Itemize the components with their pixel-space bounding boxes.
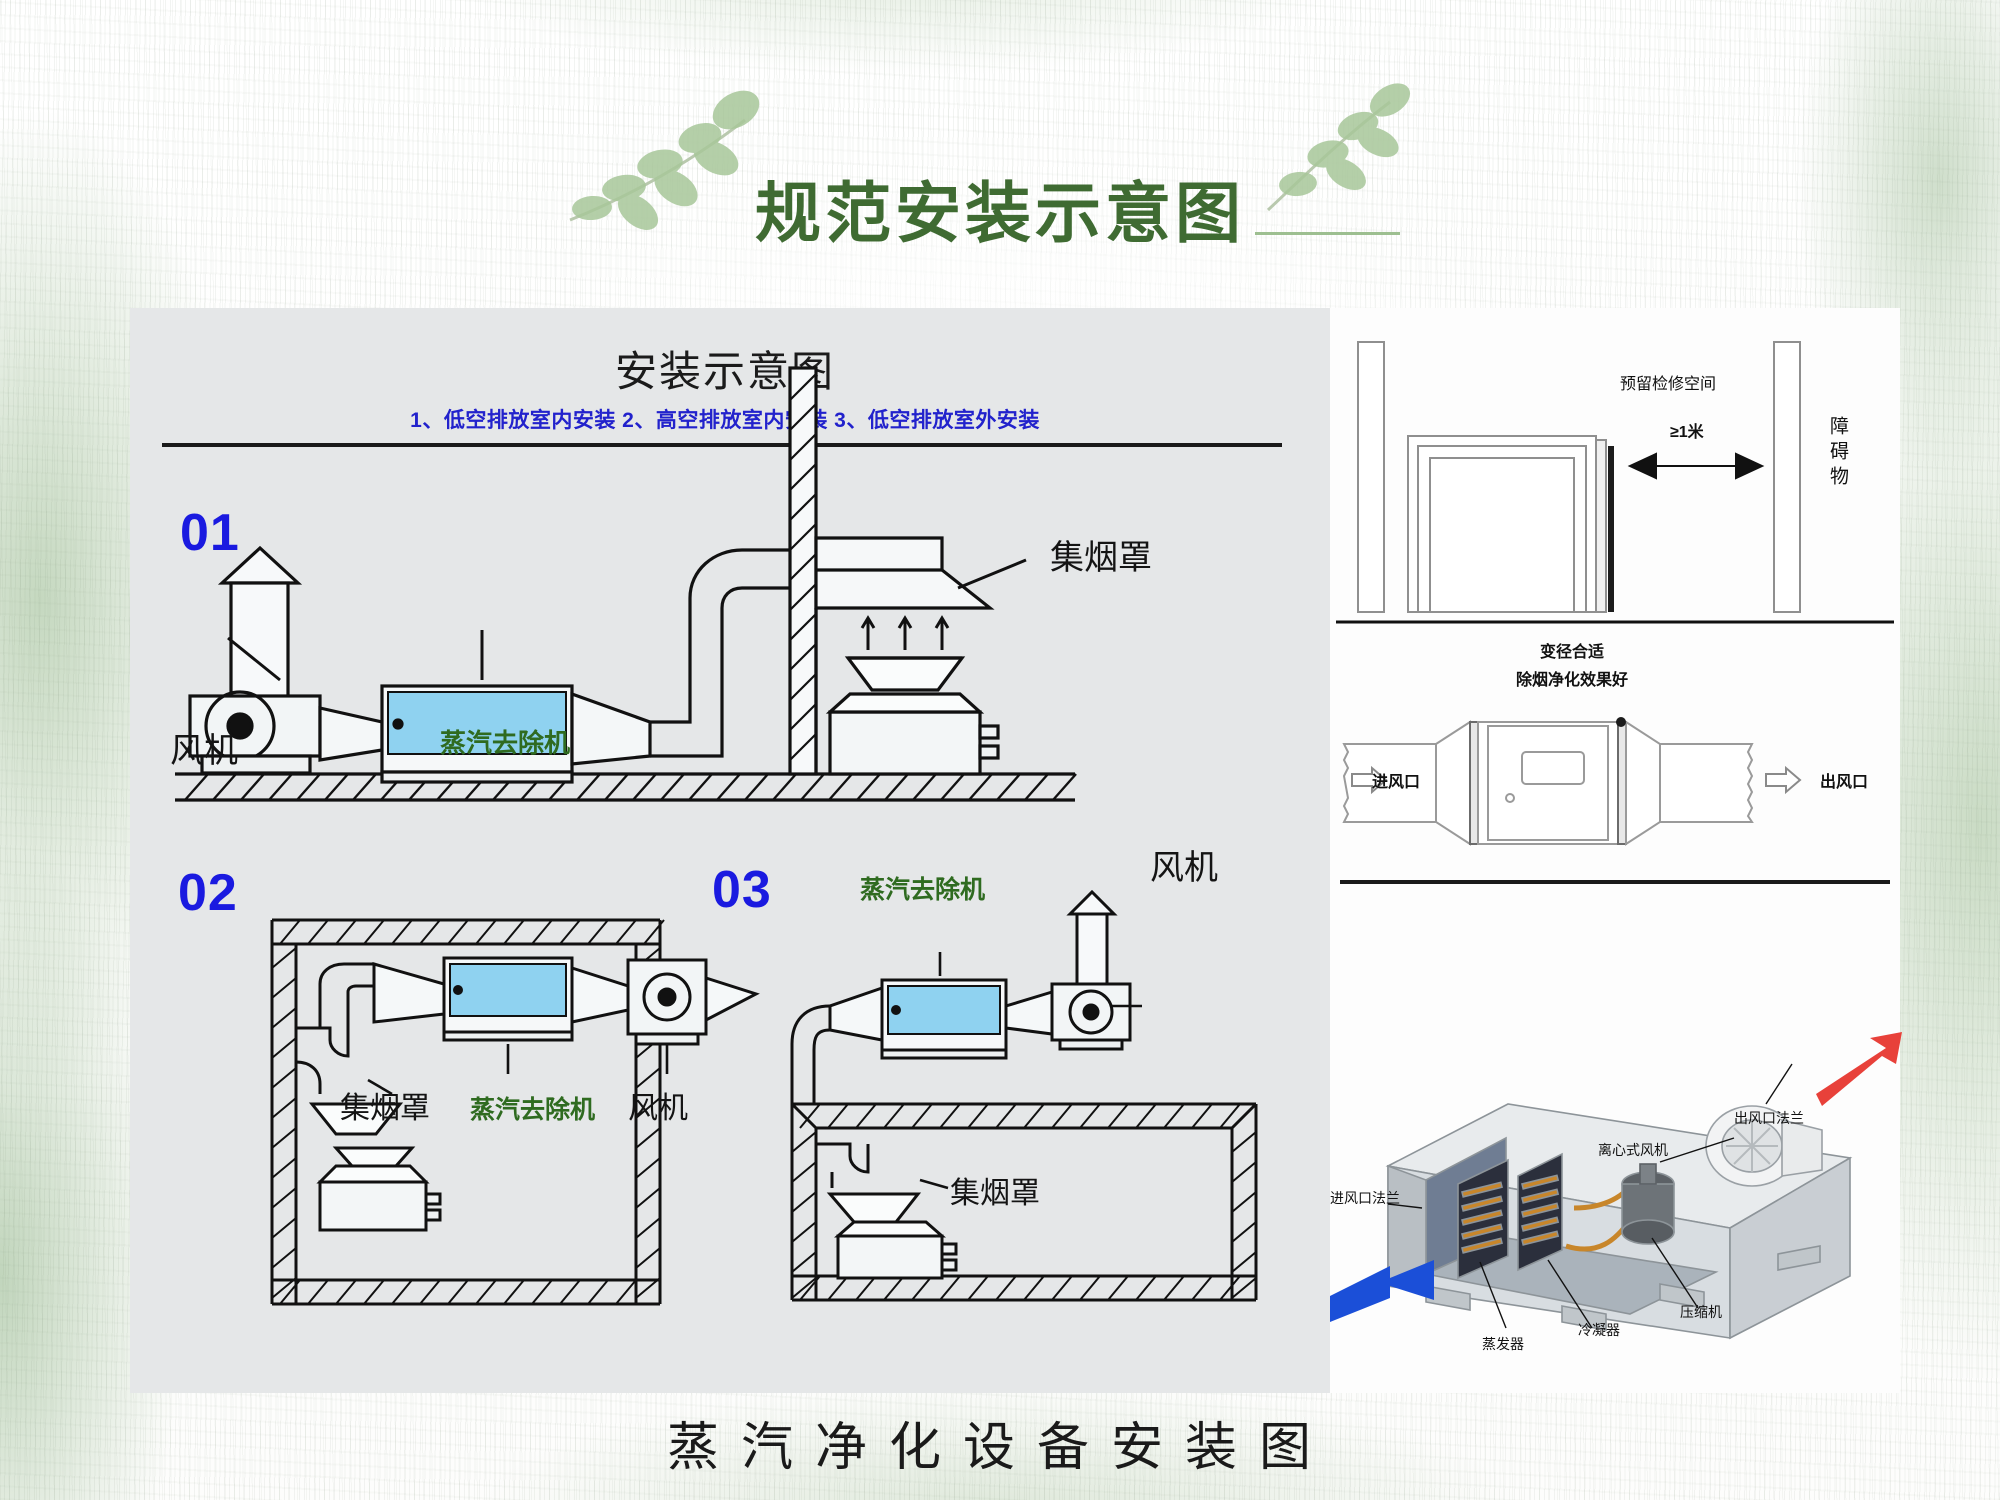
panel-divider <box>1340 880 1890 884</box>
diagram-card: 安装示意图 1、低空排放室内安装 2、高空排放室内安装 3、低空排放室外安装 0… <box>130 308 1900 1393</box>
label-condenser: 冷凝器 <box>1578 1320 1620 1340</box>
installation-diagram-panel: 安装示意图 1、低空排放室内安装 2、高空排放室内安装 3、低空排放室外安装 0… <box>130 308 1320 1393</box>
label-fan-03: 风机 <box>1150 840 1218 889</box>
diagram-03-drawing <box>770 888 1300 1318</box>
label-hood-03: 集烟罩 <box>950 1168 1040 1212</box>
label-purifier-01: 蒸汽去除机 <box>440 723 570 760</box>
label-inlet-flange: 进风口法兰 <box>1330 1188 1400 1208</box>
step-number-03: 03 <box>712 860 772 920</box>
label-outlet-flange: 出风口法兰 <box>1734 1108 1804 1128</box>
label-fan-02: 风机 <box>628 1083 688 1127</box>
duct-transition-figure <box>1330 626 1900 886</box>
label-duct-note-line2: 除烟净化效果好 <box>1516 666 1628 690</box>
page-footer-caption: 蒸汽净化设备安装图 <box>0 1405 2000 1480</box>
label-fan-01: 风机 <box>170 723 238 772</box>
label-hood-01: 集烟罩 <box>1050 530 1152 579</box>
label-purifier-03: 蒸汽去除机 <box>860 870 985 906</box>
label-hood-02: 集烟罩 <box>340 1083 430 1127</box>
label-inlet: 进风口 <box>1372 768 1420 792</box>
label-outlet: 出风口 <box>1820 768 1868 792</box>
reference-figures-panel: 预留检修空间 ≥1米 障碍物 <box>1330 308 1900 1393</box>
label-purifier-02: 蒸汽去除机 <box>470 1090 595 1126</box>
clearance-figure <box>1330 328 1900 628</box>
label-centrifugal-fan: 离心式风机 <box>1598 1140 1668 1160</box>
title-underline <box>1255 232 1400 235</box>
label-evaporator: 蒸发器 <box>1482 1334 1524 1354</box>
page-title: 规范安装示意图 <box>0 160 2000 256</box>
label-compressor: 压缩机 <box>1680 1302 1722 1322</box>
label-reserved-space: 预留检修空间 <box>1620 370 1716 394</box>
label-obstacle: 障碍物 <box>1824 416 1851 491</box>
label-duct-note-line1: 变径合适 <box>1540 638 1604 662</box>
label-clearance-dimension: ≥1米 <box>1670 418 1704 442</box>
